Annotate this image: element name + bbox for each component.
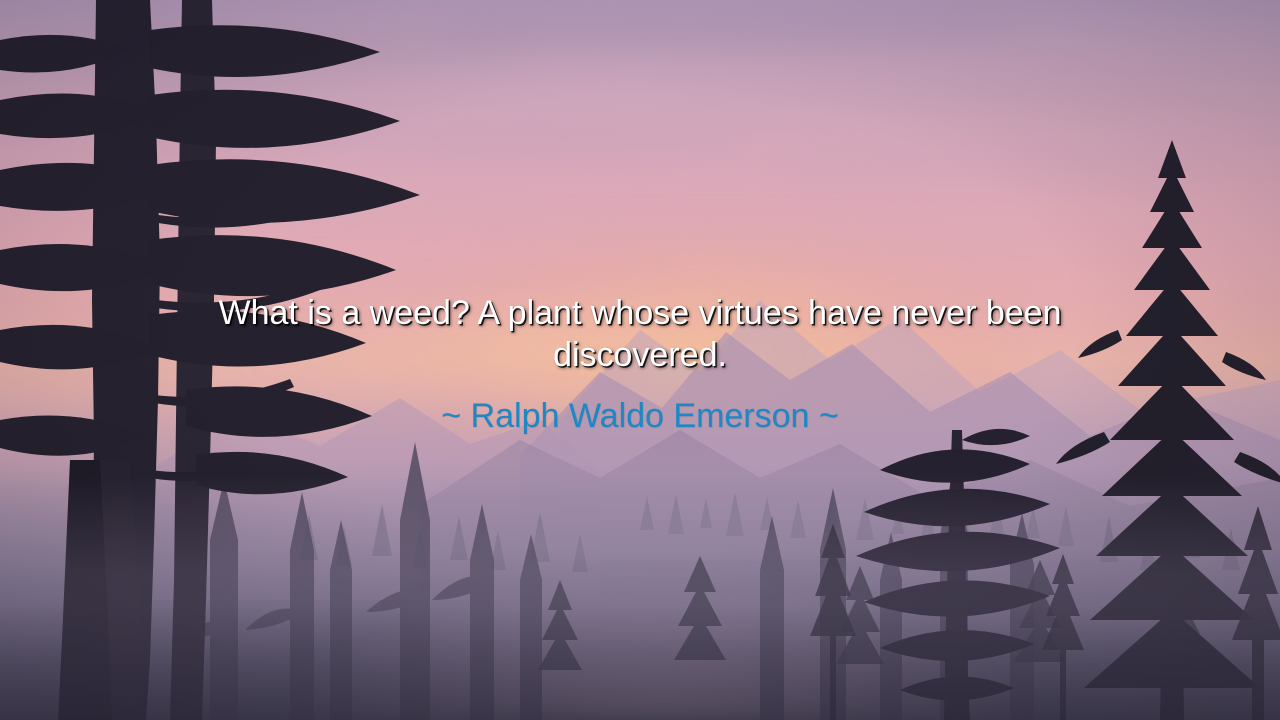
quote-block: What is a weed? A plant whose virtues ha… <box>0 292 1280 436</box>
wallpaper-canvas: What is a weed? A plant whose virtues ha… <box>0 0 1280 720</box>
quote-text: What is a weed? A plant whose virtues ha… <box>135 292 1145 376</box>
quote-author: ~ Ralph Waldo Emerson ~ <box>0 396 1280 436</box>
bottom-shadow-overlay <box>0 605 1280 720</box>
